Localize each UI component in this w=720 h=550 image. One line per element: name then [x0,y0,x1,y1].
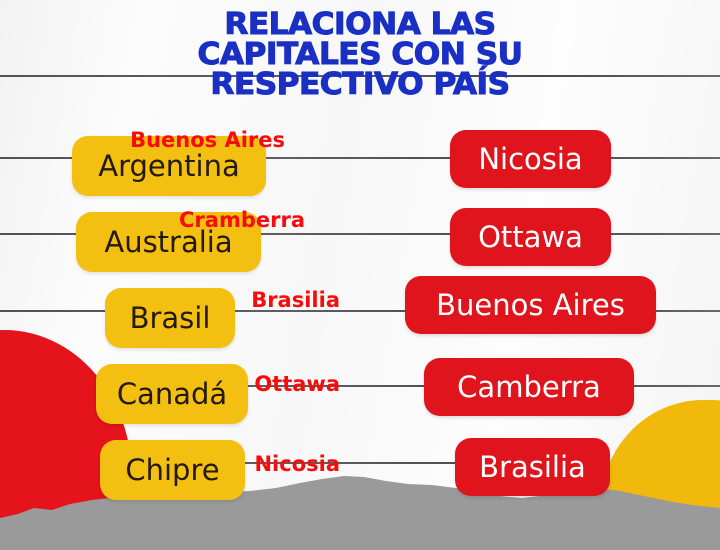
answer-text-1: Buenos Aires [130,128,285,152]
capital-pill-buenosaires[interactable]: Buenos Aires [405,276,656,334]
answer-text-4: Ottawa [254,372,340,396]
answer-text-3: Brasilia [251,288,340,312]
country-pill-chipre[interactable]: Chipre [100,440,245,500]
capital-pill-camberra[interactable]: Camberra [424,358,634,416]
title-line-2: CAPITALES CON SU [0,40,720,70]
page-title: RELACIONA LAS CAPITALES CON SU RESPECTIV… [0,10,720,100]
capital-pill-nicosia[interactable]: Nicosia [450,130,611,188]
answer-text-2: Cramberra [179,208,305,232]
answer-text-5: Nicosia [254,452,340,476]
capital-pill-ottawa[interactable]: Ottawa [450,208,611,266]
worksheet-screenshot: RELACIONA LAS CAPITALES CON SU RESPECTIV… [0,0,720,550]
title-line-1: RELACIONA LAS [0,10,720,40]
capital-pill-brasilia[interactable]: Brasilia [455,438,610,496]
title-line-3: RESPECTIVO PAÍS [0,70,720,100]
country-pill-brasil[interactable]: Brasil [105,288,235,348]
country-pill-canad[interactable]: Canadá [96,364,248,424]
